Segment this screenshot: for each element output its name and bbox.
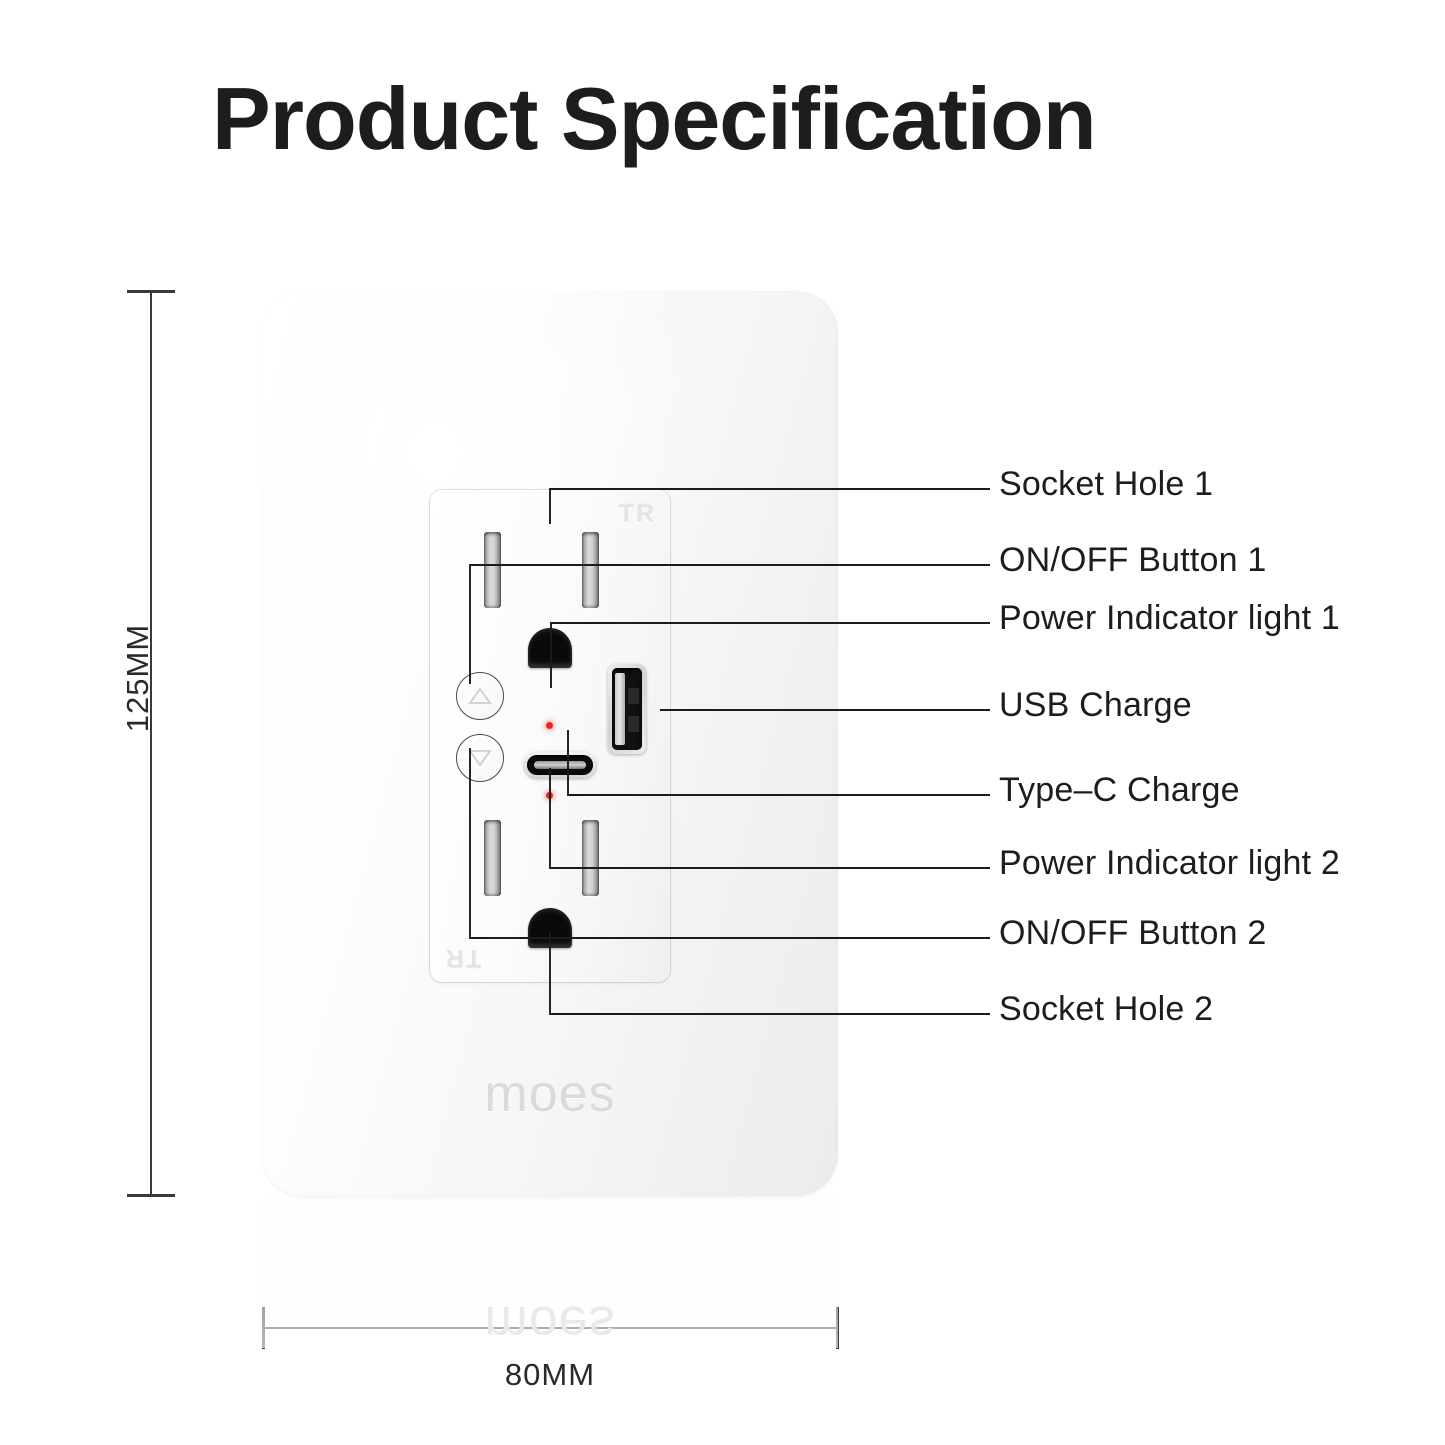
usb-a-cavity — [612, 668, 642, 750]
callout-label-power-indicator-light-1: Power Indicator light 1 — [999, 599, 1340, 638]
callout-label-usb-charge: USB Charge — [999, 686, 1192, 725]
tamper-resistant-mark-top: TR — [619, 500, 656, 529]
usb-c-port-icon[interactable] — [524, 752, 596, 778]
socket-slot-top-right[interactable] — [582, 532, 599, 608]
callout-label-on-off-button-1: ON/OFF Button 1 — [999, 541, 1267, 580]
on-off-button-1[interactable] — [456, 672, 504, 720]
usb-c-tongue — [534, 761, 586, 769]
usb-a-port-icon[interactable] — [608, 664, 646, 754]
callout-label-socket-hole-2: Socket Hole 2 — [999, 990, 1213, 1029]
socket-slot-bottom-right[interactable] — [582, 820, 599, 896]
smart-outlet-device: TR TR — [262, 290, 838, 1196]
usb-a-tongue — [615, 673, 625, 745]
width-dimension-label: 80MM — [263, 1357, 837, 1393]
reflection-brand-logo: moes — [484, 1294, 615, 1348]
page-title: Product Specification — [212, 68, 1262, 170]
socket-slot-bottom-left[interactable] — [484, 820, 501, 896]
height-dimension-cap-top — [127, 290, 175, 293]
width-dimension-line — [263, 1327, 837, 1329]
height-dimension-cap-bottom — [127, 1194, 175, 1197]
device-reflection: moes — [262, 1198, 838, 1348]
socket-slot-top-left[interactable] — [484, 532, 501, 608]
red-led-icon-2 — [546, 792, 553, 799]
width-dimension-cap-right — [836, 1307, 839, 1349]
brand-logo: moes — [484, 1064, 615, 1124]
usb-c-cavity — [527, 755, 593, 775]
width-dimension-cap-left — [262, 1307, 265, 1349]
height-dimension-line — [150, 291, 152, 1197]
triangle-down-icon — [468, 748, 492, 768]
reflection-body — [262, 1198, 838, 1348]
product-specification-page: Product Specification 125MM 80MM moes TR… — [0, 0, 1445, 1445]
red-led-icon-1 — [546, 722, 553, 729]
usb-a-pin-1 — [628, 688, 639, 704]
callout-label-power-indicator-light-2: Power Indicator light 2 — [999, 844, 1340, 883]
callout-label-socket-hole-1: Socket Hole 1 — [999, 465, 1213, 504]
on-off-button-2[interactable] — [456, 734, 504, 782]
usb-a-pin-2 — [628, 716, 639, 732]
ground-hole-icon-bottom[interactable] — [528, 908, 572, 948]
callout-label-type-c-charge: Type–C Charge — [999, 771, 1240, 810]
triangle-up-icon — [468, 686, 492, 706]
height-dimension-label: 125MM — [120, 624, 156, 732]
tamper-resistant-mark-bottom: TR — [444, 943, 481, 972]
callout-label-on-off-button-2: ON/OFF Button 2 — [999, 914, 1267, 953]
receptacle-panel: TR TR — [430, 490, 670, 982]
ground-hole-icon-top[interactable] — [528, 628, 572, 668]
